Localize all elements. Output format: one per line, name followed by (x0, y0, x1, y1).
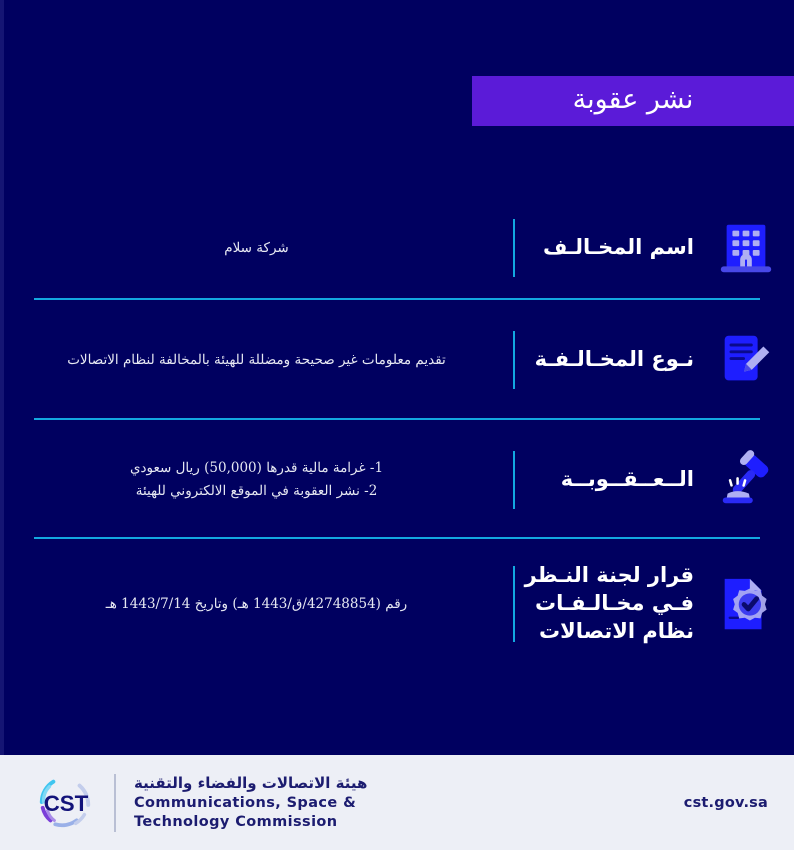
header-banner: نشر عقوبة (472, 76, 794, 126)
details-list: اسم المخـالـف شركة سلام (0, 196, 794, 696)
row-label: نـوع المخـالـفـة (513, 346, 694, 374)
row-value-line: 1- غرامة مالية قدرها (50,000) ريال سعودي (26, 457, 487, 479)
row-label-cell: الــعــقــوبــة (513, 420, 698, 539)
label-value-separator (513, 566, 515, 642)
row-value: شركة سلام (26, 237, 487, 259)
penalty-publication-card: نشر عقوبة (0, 0, 794, 850)
row-value-line: 2- نشر العقوبة في الموقع الالكتروني للهي… (26, 480, 487, 502)
row-label-cell: نـوع المخـالـفـة (513, 300, 698, 420)
brand-name-ar: هيئة الاتصالات والفضاء والتقنية (134, 773, 367, 793)
website-url[interactable]: cst.gov.sa (684, 795, 768, 811)
row-icon-cell (698, 196, 794, 300)
cst-logo-icon: CST (34, 772, 96, 834)
brand-name-en-line1: Communications, Space & (134, 794, 367, 813)
brand-name-en-line2: Technology Commission (134, 813, 367, 832)
row-label-line: فـي مخـالـفـات (535, 591, 694, 615)
gavel-icon (715, 449, 777, 511)
row-label: قرار لجنة النـظر فـي مخـالـفـات نظام الا… (513, 562, 694, 645)
row-value-cell: شركة سلام (0, 196, 513, 300)
row-label-line: قرار لجنة النـظر (525, 563, 694, 587)
row-label: اسم المخـالـف (513, 234, 694, 262)
row-label: الــعــقــوبــة (513, 466, 694, 494)
brand-divider (114, 774, 116, 832)
document-pen-icon (715, 329, 777, 391)
row-label-line: نظام الاتصالات (539, 619, 694, 643)
row-penalty: الــعــقــوبــة 1- غرامة مالية قدرها (50… (0, 420, 794, 539)
row-value-line: شركة سلام (26, 237, 487, 259)
page-title: نشر عقوبة (573, 86, 694, 116)
label-value-separator (513, 331, 515, 389)
label-value-separator (513, 451, 515, 509)
row-value: 1- غرامة مالية قدرها (50,000) ريال سعودي… (26, 457, 487, 502)
row-violation-type: نـوع المخـالـفـة تقديم معلومات غير صحيحة… (0, 300, 794, 420)
row-value-line: رقم (42748854/ق/1443 هـ) وتاريخ 1443/7/1… (26, 593, 487, 615)
row-violator-name: اسم المخـالـف شركة سلام (0, 196, 794, 300)
brand-lockup: CST هيئة الاتصالات والفضاء والتقنية Comm… (34, 772, 367, 834)
row-value: رقم (42748854/ق/1443 هـ) وتاريخ 1443/7/1… (26, 593, 487, 615)
row-icon-cell (698, 539, 794, 669)
row-value-line: تقديم معلومات غير صحيحة ومضللة للهيئة با… (26, 349, 487, 371)
svg-text:CST: CST (44, 790, 89, 815)
row-value: تقديم معلومات غير صحيحة ومضللة للهيئة با… (26, 349, 487, 371)
footer-bar: CST هيئة الاتصالات والفضاء والتقنية Comm… (0, 755, 794, 850)
label-value-separator (513, 219, 515, 277)
row-value-cell: رقم (42748854/ق/1443 هـ) وتاريخ 1443/7/1… (0, 539, 513, 669)
row-value-cell: تقديم معلومات غير صحيحة ومضللة للهيئة با… (0, 300, 513, 420)
row-value-cell: 1- غرامة مالية قدرها (50,000) ريال سعودي… (0, 420, 513, 539)
row-icon-cell (698, 300, 794, 420)
document-gear-check-icon (715, 573, 777, 635)
brand-name-block: هيئة الاتصالات والفضاء والتقنية Communic… (134, 773, 367, 833)
row-label-cell: اسم المخـالـف (513, 196, 698, 300)
row-label-cell: قرار لجنة النـظر فـي مخـالـفـات نظام الا… (513, 539, 698, 669)
office-building-icon (715, 217, 777, 279)
row-icon-cell (698, 420, 794, 539)
row-committee-decision: قرار لجنة النـظر فـي مخـالـفـات نظام الا… (0, 539, 794, 669)
